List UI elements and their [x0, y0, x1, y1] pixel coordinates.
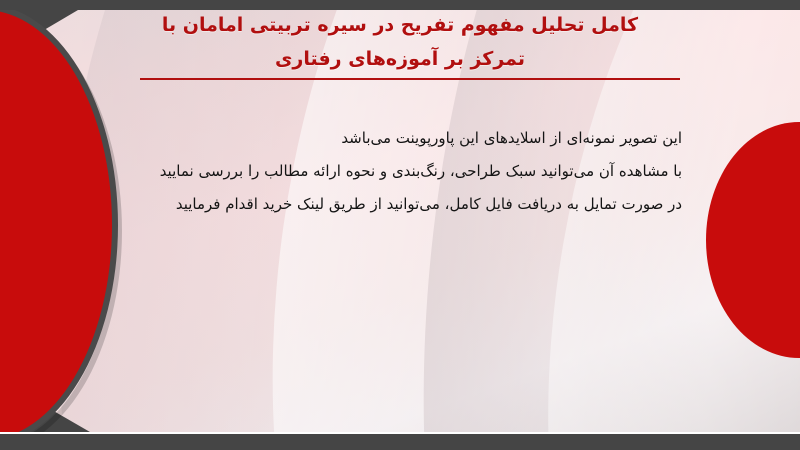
body-line-3: در صورت تمایل به دریافت فایل کامل، می‌تو… — [82, 188, 682, 221]
title-underline-rule — [140, 78, 680, 80]
body-line-2: با مشاهده آن می‌توانید سبک طراحی، رنگ‌بن… — [82, 155, 682, 188]
slide-frame-bottom-bar — [0, 432, 800, 450]
slide-title: کامل تحلیل مفهوم تفریح در سیره تربیتی ام… — [100, 8, 700, 76]
presentation-slide: کامل تحلیل مفهوم تفریح در سیره تربیتی ام… — [0, 0, 800, 450]
slide-title-line-1: کامل تحلیل مفهوم تفریح در سیره تربیتی ام… — [100, 8, 700, 42]
body-line-1: این تصویر نمونه‌ای از اسلایدهای این پاور… — [82, 122, 682, 155]
slide-title-line-2: تمرکز بر آموزه‌های رفتاری — [100, 42, 700, 76]
slide-body-text: این تصویر نمونه‌ای از اسلایدهای این پاور… — [82, 122, 682, 221]
right-red-ellipse-decoration — [706, 122, 800, 358]
